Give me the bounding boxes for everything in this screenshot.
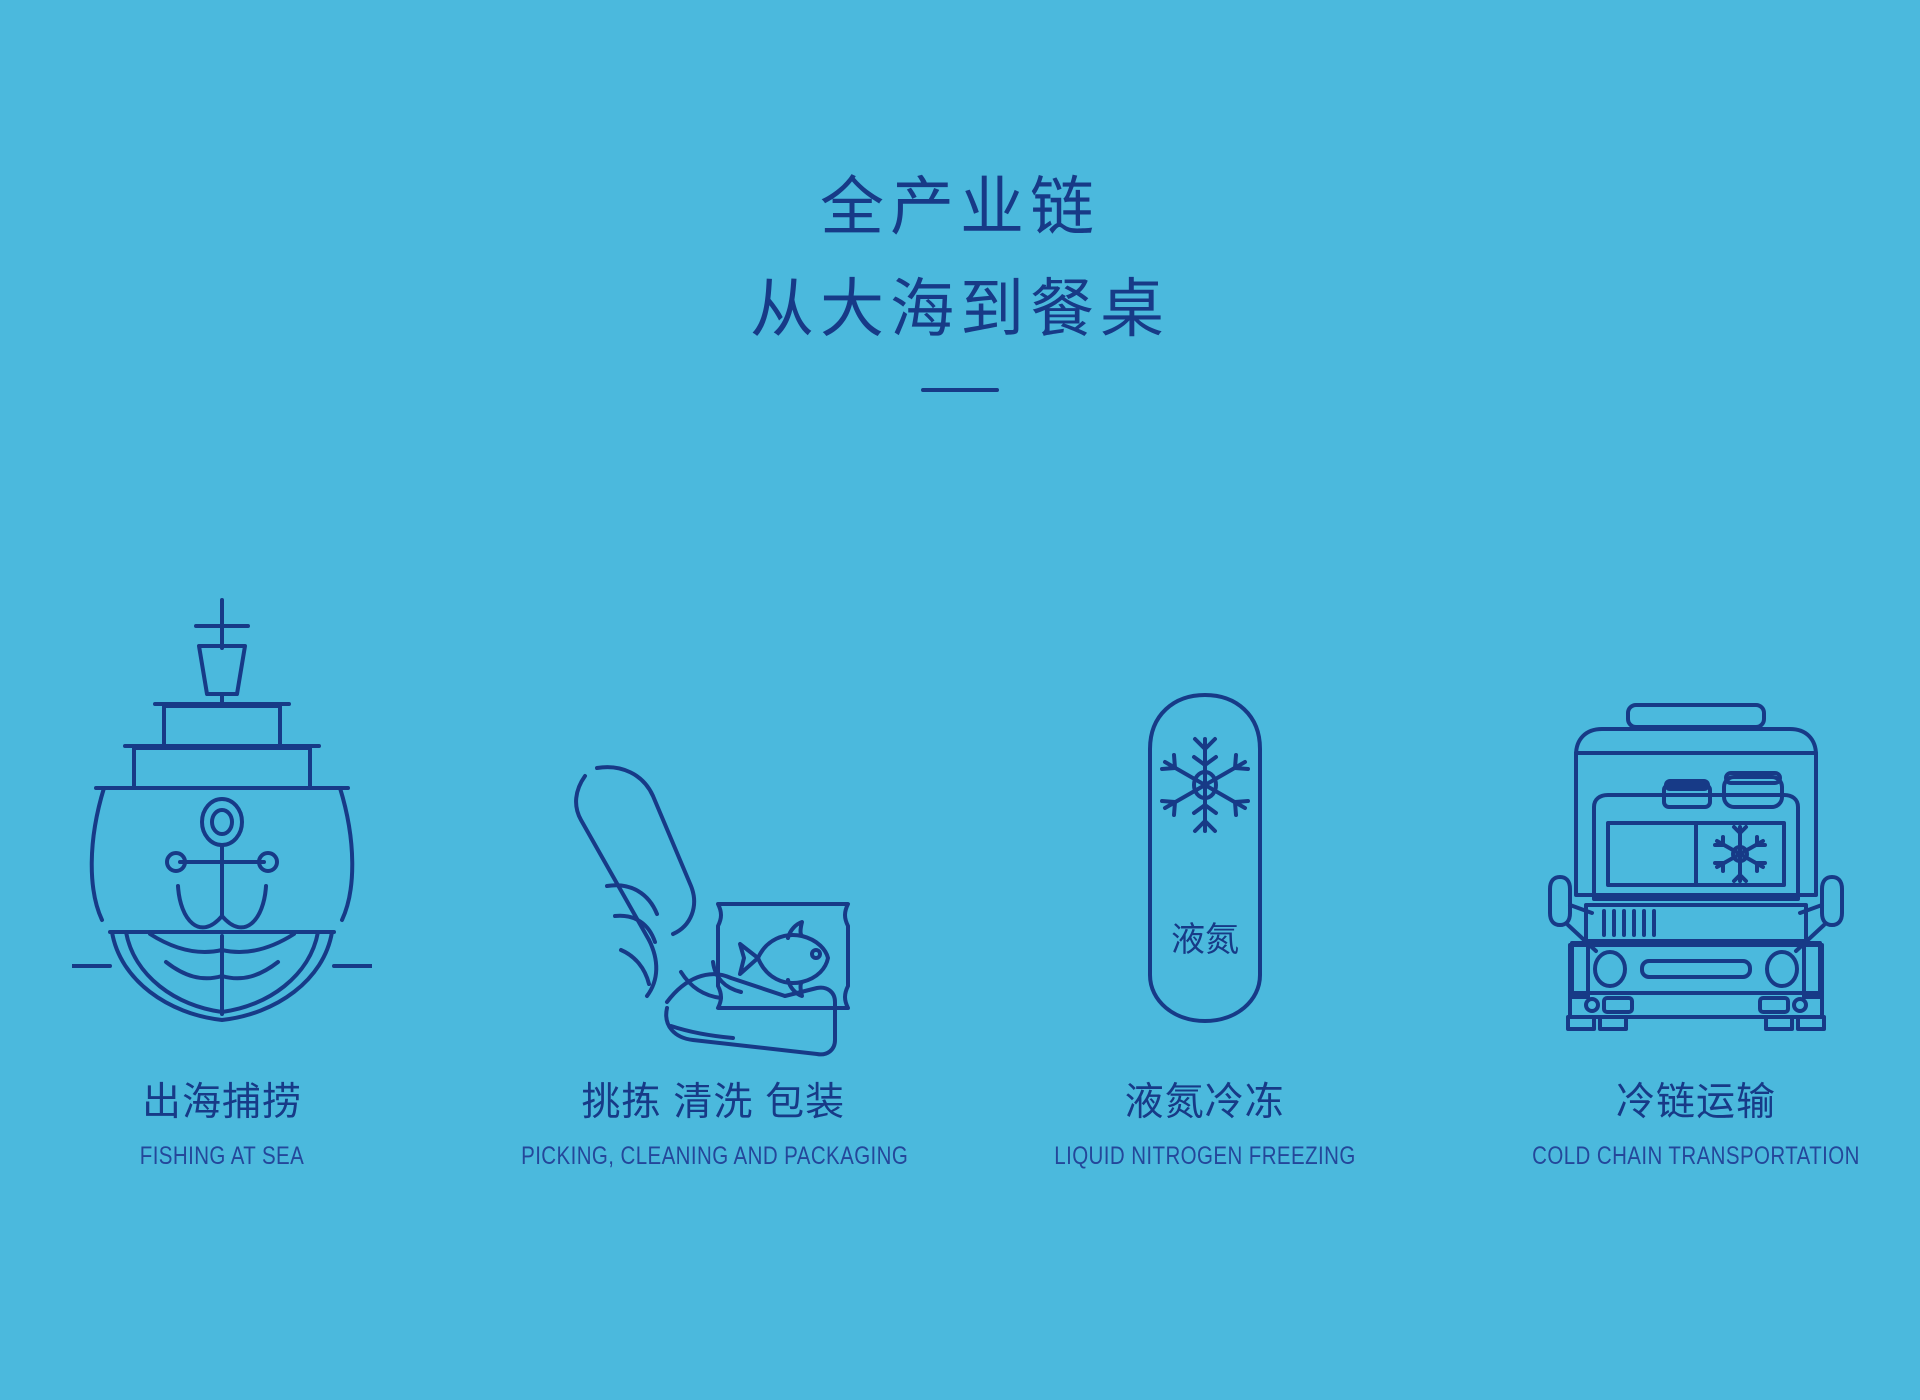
refrigerated-truck-icon xyxy=(1462,629,1920,1029)
process-steps: 出海捕捞 FISHING AT SEA xyxy=(0,520,1920,1171)
page-title-secondary: 从大海到餐桌 xyxy=(0,278,1920,342)
tank-label: 液氮 xyxy=(1171,921,1239,959)
step-label-en: LIQUID NITROGEN FREEZING xyxy=(1013,1142,1397,1171)
step-label-cn: 挑拣 清洗 包装 xyxy=(479,1081,947,1126)
step-label-cn: 冷链运输 xyxy=(1462,1081,1920,1126)
fishing-boat-with-anchor-icon xyxy=(0,520,456,920)
header: 全产业链 从大海到餐桌 xyxy=(0,176,1920,392)
boat-lower-hull-group xyxy=(72,914,372,1029)
infographic-canvas: 全产业链 从大海到餐桌 xyxy=(0,0,1920,1400)
step-cold-chain-transportation: 冷链运输 COLD CHAIN TRANSPORTATION xyxy=(1462,629,1920,1171)
liquid-nitrogen-tank-icon: 液氮 xyxy=(971,629,1439,1029)
step-liquid-nitrogen-freezing: 液氮 液氮冷冻 LIQUID NITROGEN FREEZING xyxy=(971,629,1439,1171)
title-divider-wrap xyxy=(0,388,1920,392)
step-labels: 液氮冷冻 LIQUID NITROGEN FREEZING xyxy=(971,1081,1439,1171)
step-labels: 出海捕捞 FISHING AT SEA xyxy=(0,1081,456,1171)
step-labels: 挑拣 清洗 包装 PICKING, CLEANING AND PACKAGING xyxy=(479,1081,947,1171)
step-picking-cleaning-packaging: 挑拣 清洗 包装 PICKING, CLEANING AND PACKAGING xyxy=(479,628,947,1171)
step-label-en: PICKING, CLEANING AND PACKAGING xyxy=(521,1142,905,1171)
step-labels: 冷链运输 COLD CHAIN TRANSPORTATION xyxy=(1462,1081,1920,1171)
step-label-en: FISHING AT SEA xyxy=(30,1142,414,1171)
title-divider xyxy=(921,388,999,392)
step-fishing-at-sea: 出海捕捞 FISHING AT SEA xyxy=(0,520,456,1171)
packaged-fish-group xyxy=(708,896,858,1021)
step-label-en: COLD CHAIN TRANSPORTATION xyxy=(1504,1142,1888,1171)
page-title-primary: 全产业链 xyxy=(0,176,1920,240)
step-label-cn: 液氮冷冻 xyxy=(971,1081,1439,1126)
step-label-cn: 出海捕捞 xyxy=(0,1081,456,1126)
